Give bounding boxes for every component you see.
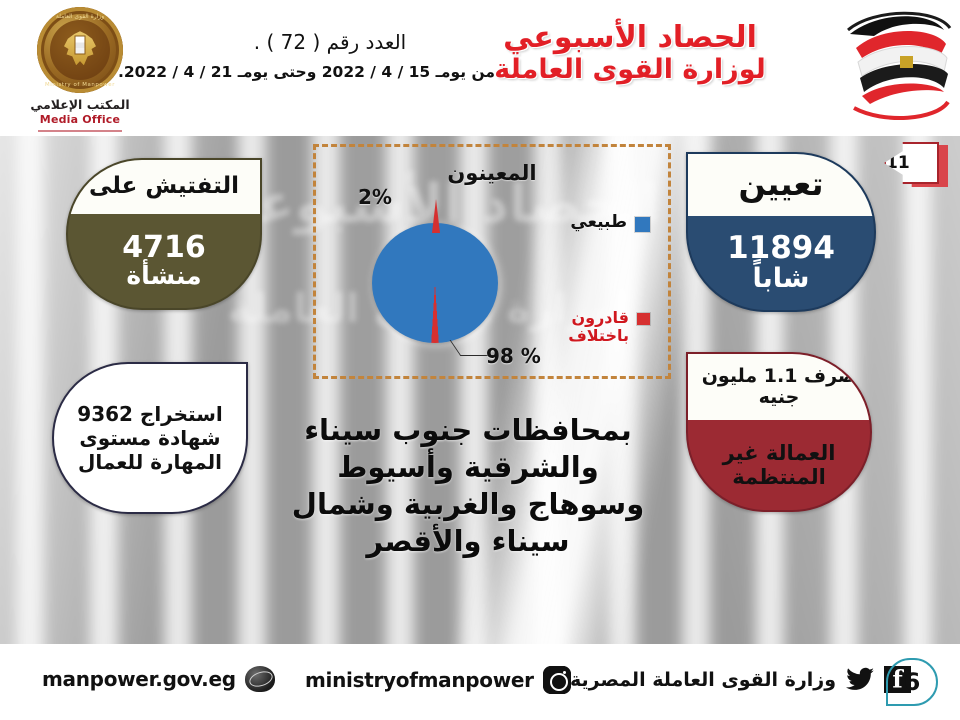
header: وزارة القوى العاملة Ministry of Manpower… — [0, 0, 960, 136]
ministry-seal-icon: وزارة القوى العاملة Ministry of Manpower — [37, 7, 123, 93]
pie-chart-title: المعينون — [316, 161, 668, 185]
pie-chart-legend: طبيعي قادرون باختلاف — [500, 213, 650, 345]
badge-inspection-body: 4716 منشأة — [68, 214, 260, 308]
pie-label-majority: 98 % — [486, 344, 541, 368]
badge-appointments-number: 11894 — [727, 232, 835, 265]
headline-line-3: وسوهاج والغربية وشمال — [250, 486, 686, 523]
globe-icon — [245, 666, 275, 692]
footer: manpower.gov.eg ministryofmanpower وزارة… — [0, 644, 960, 720]
instagram-icon — [543, 666, 571, 694]
footer-instagram[interactable]: ministryofmanpower — [305, 666, 571, 694]
badge-inspection-number: 4716 — [122, 232, 206, 264]
logo-divider — [38, 130, 122, 132]
pie-label-minority: 2% — [358, 185, 392, 209]
badge-appointments-label: تعيين — [739, 167, 824, 202]
badge-certificates-line-1: استخراج 9362 — [77, 402, 222, 426]
legend-label-disabled-line-2: باختلاف — [568, 326, 629, 345]
legend-label-disabled-line-1: قادرون — [571, 308, 629, 327]
legend-swatch-disabled — [637, 313, 650, 325]
badge-irregular-labour[interactable]: صرف 1.1 مليون جنيه العمالة غير المنتظمة — [686, 352, 872, 512]
badge-appointments-unit: شاباً — [753, 264, 810, 294]
seal-arabic-text: وزارة القوى العاملة — [56, 13, 104, 20]
legend-label-disabled: قادرون باختلاف — [568, 309, 629, 346]
footer-social-label: وزارة القوى العاملة المصرية — [570, 669, 836, 691]
media-office-arabic: المكتب الإعلامي — [14, 97, 146, 112]
page-title: الحصاد الأسبوعي لوزارة القوى العاملة — [420, 22, 840, 84]
badge-certificates-line-3: المهارة للعمال — [78, 450, 222, 474]
badge-certificates[interactable]: استخراج 9362 شهادة مستوى المهارة للعمال — [52, 362, 248, 514]
pie-slice-minority — [432, 199, 440, 233]
pie-chart-panel: المعينون 2% 98 % طبيعي قادرون باختلاف — [313, 144, 671, 379]
arrow-marker-icon: 11 — [880, 140, 948, 190]
legend-item-normal: طبيعي — [500, 213, 650, 233]
page-number-value: 6 — [904, 668, 921, 696]
footer-website-label: manpower.gov.eg — [42, 667, 236, 691]
infographic-page: وزارة القوى العاملة Ministry of Manpower… — [0, 0, 960, 720]
arrow-marker-body: 11 — [884, 142, 939, 184]
badge-irregular-amount-line-2: جنيه — [759, 387, 800, 408]
footer-social[interactable]: وزارة القوى العاملة المصرية — [570, 666, 911, 693]
badge-appointments[interactable]: تعيين 11894 شاباً — [686, 152, 876, 312]
footer-instagram-label: ministryofmanpower — [305, 668, 534, 692]
title-line-2: لوزارة القوى العاملة — [420, 56, 840, 85]
headline-line-4: سيناء والأقصر — [250, 523, 686, 560]
badge-certificates-line-2: شهادة مستوى — [79, 426, 220, 450]
pie-circle — [372, 223, 498, 343]
badge-irregular-amount-line-1: صرف 1.1 مليون — [702, 366, 857, 387]
legend-label-normal: طبيعي — [570, 213, 627, 233]
title-line-1: الحصاد الأسبوعي — [420, 22, 840, 54]
pie-chart-graphic — [372, 217, 502, 347]
headline-line-2: والشرقية وأسيوط — [250, 449, 686, 486]
egypt-flag-swirl-icon — [840, 8, 952, 126]
media-office-english: Media Office — [14, 113, 146, 126]
legend-item-disabled: قادرون باختلاف — [500, 309, 650, 346]
headline-governorates: بمحافظات جنوب سيناء والشرقية وأسيوط وسوه… — [250, 412, 686, 560]
headline-line-1: بمحافظات جنوب سيناء — [250, 412, 686, 449]
badge-irregular-line-2: المنتظمة — [732, 465, 826, 489]
seal-flag-icon — [75, 35, 86, 54]
legend-swatch-normal — [635, 217, 650, 232]
badge-certificates-body: استخراج 9362 شهادة مستوى المهارة للعمال — [54, 364, 246, 512]
badge-irregular-line-1: العمالة غير — [723, 441, 836, 465]
footer-website[interactable]: manpower.gov.eg — [42, 666, 275, 692]
arrow-marker-number: 11 — [886, 153, 918, 173]
badge-inspection[interactable]: التفتيش على 4716 منشأة — [66, 158, 262, 310]
seal-latin-text: Ministry of Manpower — [45, 82, 115, 88]
badge-inspection-unit: منشأة — [126, 262, 201, 290]
badge-inspection-label: التفتيش على — [89, 174, 239, 199]
page-number-badge: 6 — [886, 658, 938, 706]
twitter-icon — [845, 667, 875, 693]
